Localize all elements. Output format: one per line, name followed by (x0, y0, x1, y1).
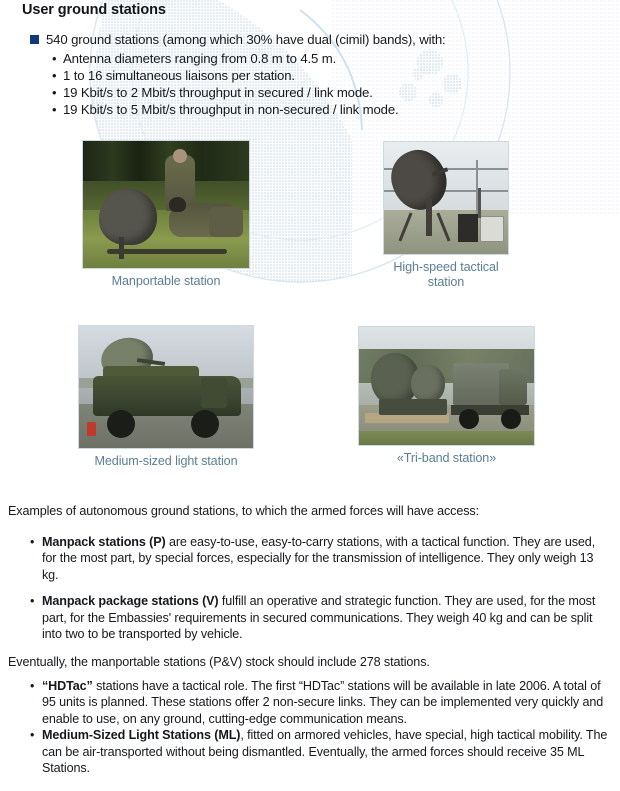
grass (359, 431, 534, 445)
satellite-dish-icon (99, 189, 157, 245)
figure-high-speed-tactical-station: High-speed tactical station (383, 141, 509, 290)
vehicle-wheel (191, 410, 219, 438)
vehicle-hatch (201, 378, 227, 408)
photo-manportable-station (82, 140, 250, 269)
antenna-pole (478, 188, 481, 218)
truck-wheel (501, 409, 521, 429)
list-item: Antenna diameters ranging from 0.8 m to … (52, 50, 550, 67)
spec-block: 540 ground stations (among which 30% hav… (30, 32, 550, 118)
list-item-lead: Manpack stations (P) (42, 535, 166, 549)
document-page: User ground stations 540 ground stations… (0, 0, 620, 791)
list-item-text: stations have a tactical role. The first… (42, 679, 603, 726)
list-item: Medium-Sized Light Stations (ML), fitted… (30, 727, 608, 776)
figure-manportable-station: Manportable station (82, 140, 250, 289)
dish-mount (119, 237, 124, 259)
stock-paragraph: Eventually, the manportable stations (P&… (8, 654, 608, 670)
list-item-lead: Manpack package stations (V) (42, 594, 219, 608)
spec-lead-text: 540 ground stations (among which 30% hav… (46, 32, 446, 47)
list-item: Manpack package stations (V) fulfill an … (30, 593, 608, 642)
cable (107, 249, 227, 254)
trailer (379, 399, 447, 415)
soldier-head (169, 197, 186, 212)
list-item: 1 to 16 simultaneous liaisons per statio… (52, 67, 550, 84)
list-item: 19 Kbit/s to 2 Mbit/s throughput in secu… (52, 84, 550, 101)
list-item-lead: “HDTac” (42, 679, 93, 693)
spec-lead-row: 540 ground stations (among which 30% hav… (30, 32, 550, 48)
intro-paragraph: Examples of autonomous ground stations, … (8, 503, 608, 519)
photo-medium-sized-light-station (78, 325, 254, 449)
figure-caption: «Tri-band station» (358, 451, 535, 466)
equipment-case (480, 216, 504, 242)
soldier-head (173, 149, 187, 163)
list-item: “HDTac” stations have a tactical role. T… (30, 678, 608, 727)
truck-cab (499, 369, 527, 405)
traffic-cone (87, 422, 96, 436)
list-item-lead: Medium-Sized Light Stations (ML) (42, 728, 240, 742)
manpack-bullet-list: Manpack stations (P) are easy-to-use, ea… (30, 534, 608, 652)
figure-medium-sized-light-station: Medium-sized light station (78, 325, 254, 469)
photo-high-speed-tactical-station (383, 141, 509, 255)
figure-caption: High-speed tactical station (383, 260, 509, 290)
figure-tri-band-station: «Tri-band station» (358, 326, 535, 466)
vehicle-wheel (107, 410, 135, 438)
truck-wheel (459, 409, 479, 429)
figure-caption: Medium-sized light station (78, 454, 254, 469)
satellite-dish-icon (411, 365, 445, 403)
square-bullet-icon (30, 35, 39, 44)
page-title: User ground stations (22, 2, 166, 18)
photo-tri-band-station (358, 326, 535, 446)
hdtac-bullet-list: “HDTac” stations have a tactical role. T… (30, 678, 608, 776)
field-equipment (209, 207, 243, 237)
dish-mast (426, 198, 432, 236)
spec-sub-list: Antenna diameters ranging from 0.8 m to … (52, 50, 550, 118)
list-item: Manpack stations (P) are easy-to-use, ea… (30, 534, 608, 583)
list-item: 19 Kbit/s to 5 Mbit/s throughput in non-… (52, 101, 550, 118)
equipment-case (458, 214, 478, 242)
figure-caption: Manportable station (82, 274, 250, 289)
